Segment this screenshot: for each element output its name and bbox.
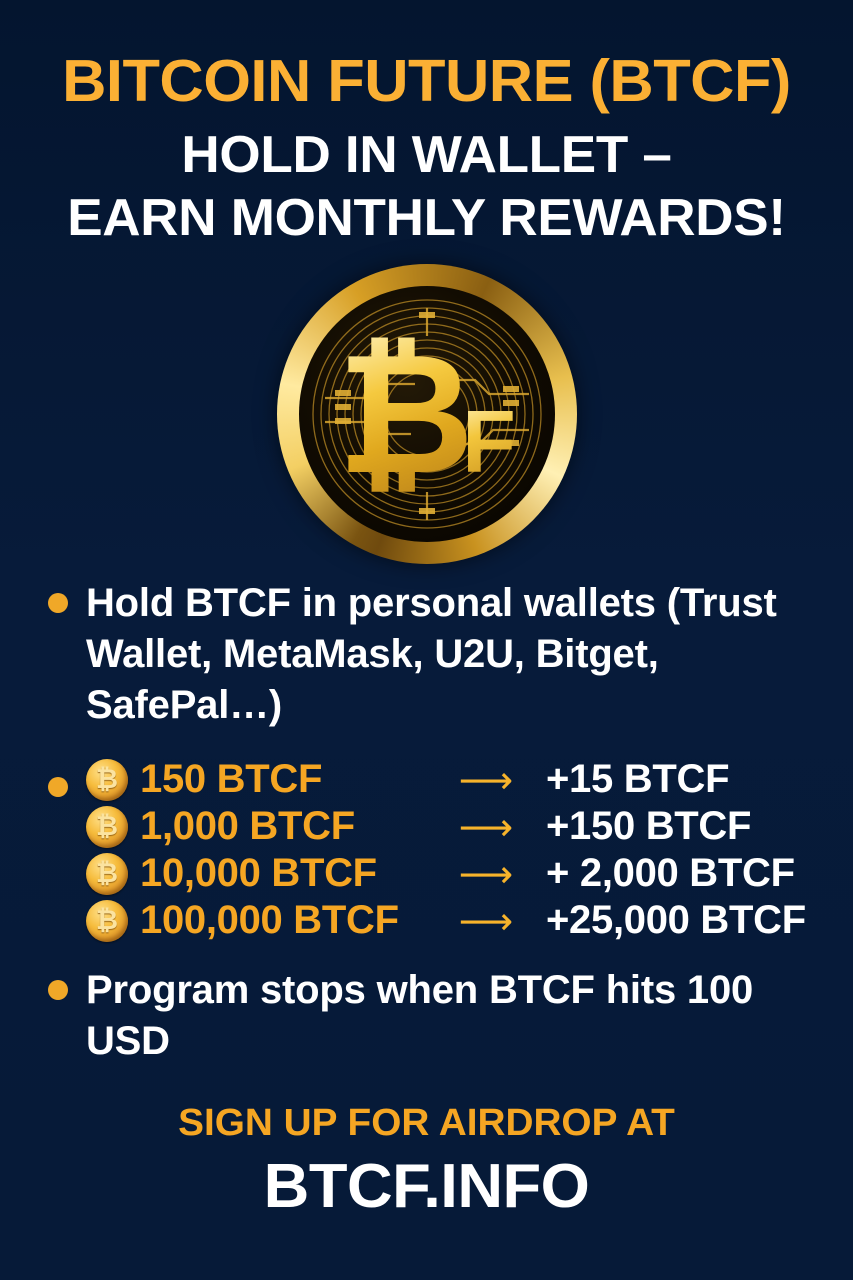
subtitle-line-1: HOLD IN WALLET – [0,125,853,186]
bitcoin-future-coin-icon: ₿ F [277,264,577,564]
reward-tier-list: 150 BTCF ⟶ +15 BTCF 1,000 BTCF ⟶ +150 BT… [48,757,831,943]
bitcoin-symbol: ₿ [337,330,474,498]
tier-hold-cell: 150 BTCF [48,757,440,802]
coin-glyph: ₿ F [277,264,577,564]
arrow-right-icon: ⟶ [440,761,532,799]
bullet-stop-condition: Program stops when BTCF hits 100 USD [48,965,831,1067]
future-initial: F [462,398,516,486]
bullet-dot-icon [48,980,68,1000]
arrow-right-icon: ⟶ [440,855,532,893]
arrow-right-icon: ⟶ [440,808,532,846]
table-row: 1,000 BTCF ⟶ +150 BTCF [48,804,831,849]
tier-reward-amount: + 2,000 BTCF [532,851,795,896]
tier-hold-cell: 1,000 BTCF [48,804,440,849]
tier-hold-cell: 100,000 BTCF [48,898,440,943]
content-body: Hold BTCF in personal wallets (Trust Wal… [0,564,853,1068]
bullet-stop-condition-label: Program stops when BTCF hits 100 USD [86,965,831,1067]
airdrop-cta-label: SIGN UP FOR AIRDROP AT [0,1102,853,1145]
table-row: 150 BTCF ⟶ +15 BTCF [48,757,831,802]
subtitle-line-2: EARN MONTHLY REWARDS! [0,188,853,249]
tier-hold-amount: 150 BTCF [140,757,322,802]
tier-reward-amount: +25,000 BTCF [532,898,806,943]
promo-poster: BITCOIN FUTURE (BTCF) HOLD IN WALLET – E… [0,0,853,1280]
tier-reward-amount: +150 BTCF [532,804,751,849]
table-row: 100,000 BTCF ⟶ +25,000 BTCF [48,898,831,943]
headline-block: BITCOIN FUTURE (BTCF) HOLD IN WALLET – E… [0,0,853,250]
coin-emoji-icon [86,759,128,801]
bullet-dot-icon [48,593,68,613]
bullet-wallets-label: Hold BTCF in personal wallets (Trust Wal… [86,578,831,732]
tier-hold-amount: 1,000 BTCF [140,804,355,849]
coin-emoji-icon [86,853,128,895]
coin-emoji-icon [86,900,128,942]
page-title: BITCOIN FUTURE (BTCF) [0,52,853,111]
tier-reward-amount: +15 BTCF [532,757,729,802]
website-domain-link[interactable]: BTCF.INFO [0,1151,853,1222]
bullet-dot-icon [48,777,68,797]
footer-block: SIGN UP FOR AIRDROP AT BTCF.INFO [0,1102,853,1222]
tier-hold-amount: 10,000 BTCF [140,851,377,896]
tier-hold-cell: 10,000 BTCF [48,851,440,896]
table-row: 10,000 BTCF ⟶ + 2,000 BTCF [48,851,831,896]
bullet-wallets: Hold BTCF in personal wallets (Trust Wal… [48,578,831,732]
coin-emoji-icon [86,806,128,848]
arrow-right-icon: ⟶ [440,902,532,940]
tier-hold-amount: 100,000 BTCF [140,898,399,943]
